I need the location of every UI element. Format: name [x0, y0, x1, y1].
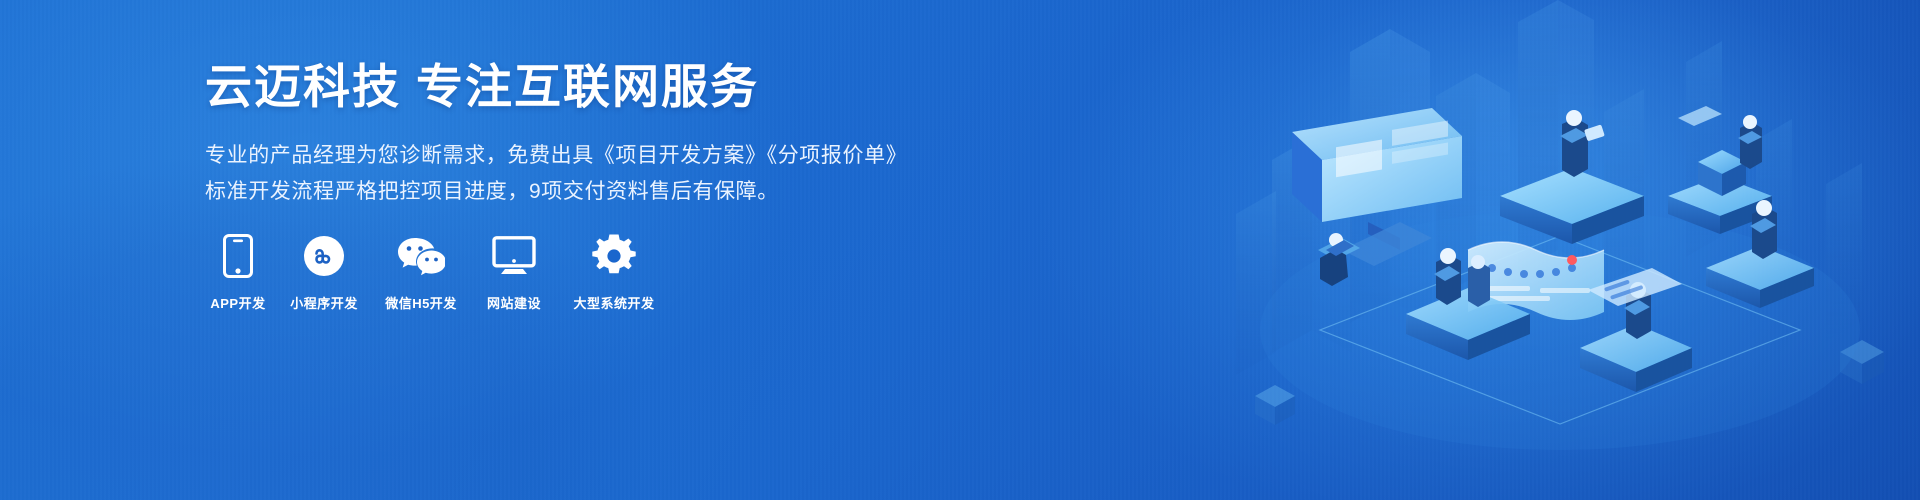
subtitle-line-2: 标准开发流程严格把控项目进度，9项交付资料售后有保障。 — [205, 174, 925, 210]
service-label: 网站建设 — [487, 293, 541, 312]
banner-content: 云迈科技 专注互联网服务 专业的产品经理为您诊断需求，免费出具《项目开发方案》《… — [205, 60, 925, 210]
wechat-icon — [397, 233, 445, 279]
service-label: APP开发 — [210, 293, 265, 312]
service-item-large-system[interactable]: 大型系统开发 — [558, 233, 670, 312]
mini-program-icon — [303, 233, 345, 279]
monitor-icon — [492, 233, 536, 279]
gear-icon — [592, 233, 636, 279]
top-right-glow — [1100, 0, 1920, 460]
service-list: APP开发 小程序开发 — [200, 233, 670, 312]
banner-subtitle: 专业的产品经理为您诊断需求，免费出具《项目开发方案》《分项报价单》 标准开发流程… — [205, 138, 925, 210]
hero-banner: 云迈科技 专注互联网服务 专业的产品经理为您诊断需求，免费出具《项目开发方案》《… — [0, 0, 1920, 500]
bottom-left-glow — [0, 160, 640, 500]
service-item-website[interactable]: 网站建设 — [470, 233, 558, 312]
service-item-mini-program[interactable]: 小程序开发 — [276, 233, 372, 312]
isometric-illustration — [1200, 0, 1920, 500]
service-item-app[interactable]: APP开发 — [200, 233, 276, 312]
service-label: 大型系统开发 — [573, 293, 654, 312]
service-label: 小程序开发 — [290, 293, 358, 312]
mobile-phone-icon — [223, 233, 253, 279]
page-title: 云迈科技 专注互联网服务 — [205, 60, 925, 114]
subtitle-line-1: 专业的产品经理为您诊断需求，免费出具《项目开发方案》《分项报价单》 — [205, 138, 925, 174]
service-label: 微信H5开发 — [385, 293, 457, 312]
service-item-wechat-h5[interactable]: 微信H5开发 — [372, 233, 470, 312]
